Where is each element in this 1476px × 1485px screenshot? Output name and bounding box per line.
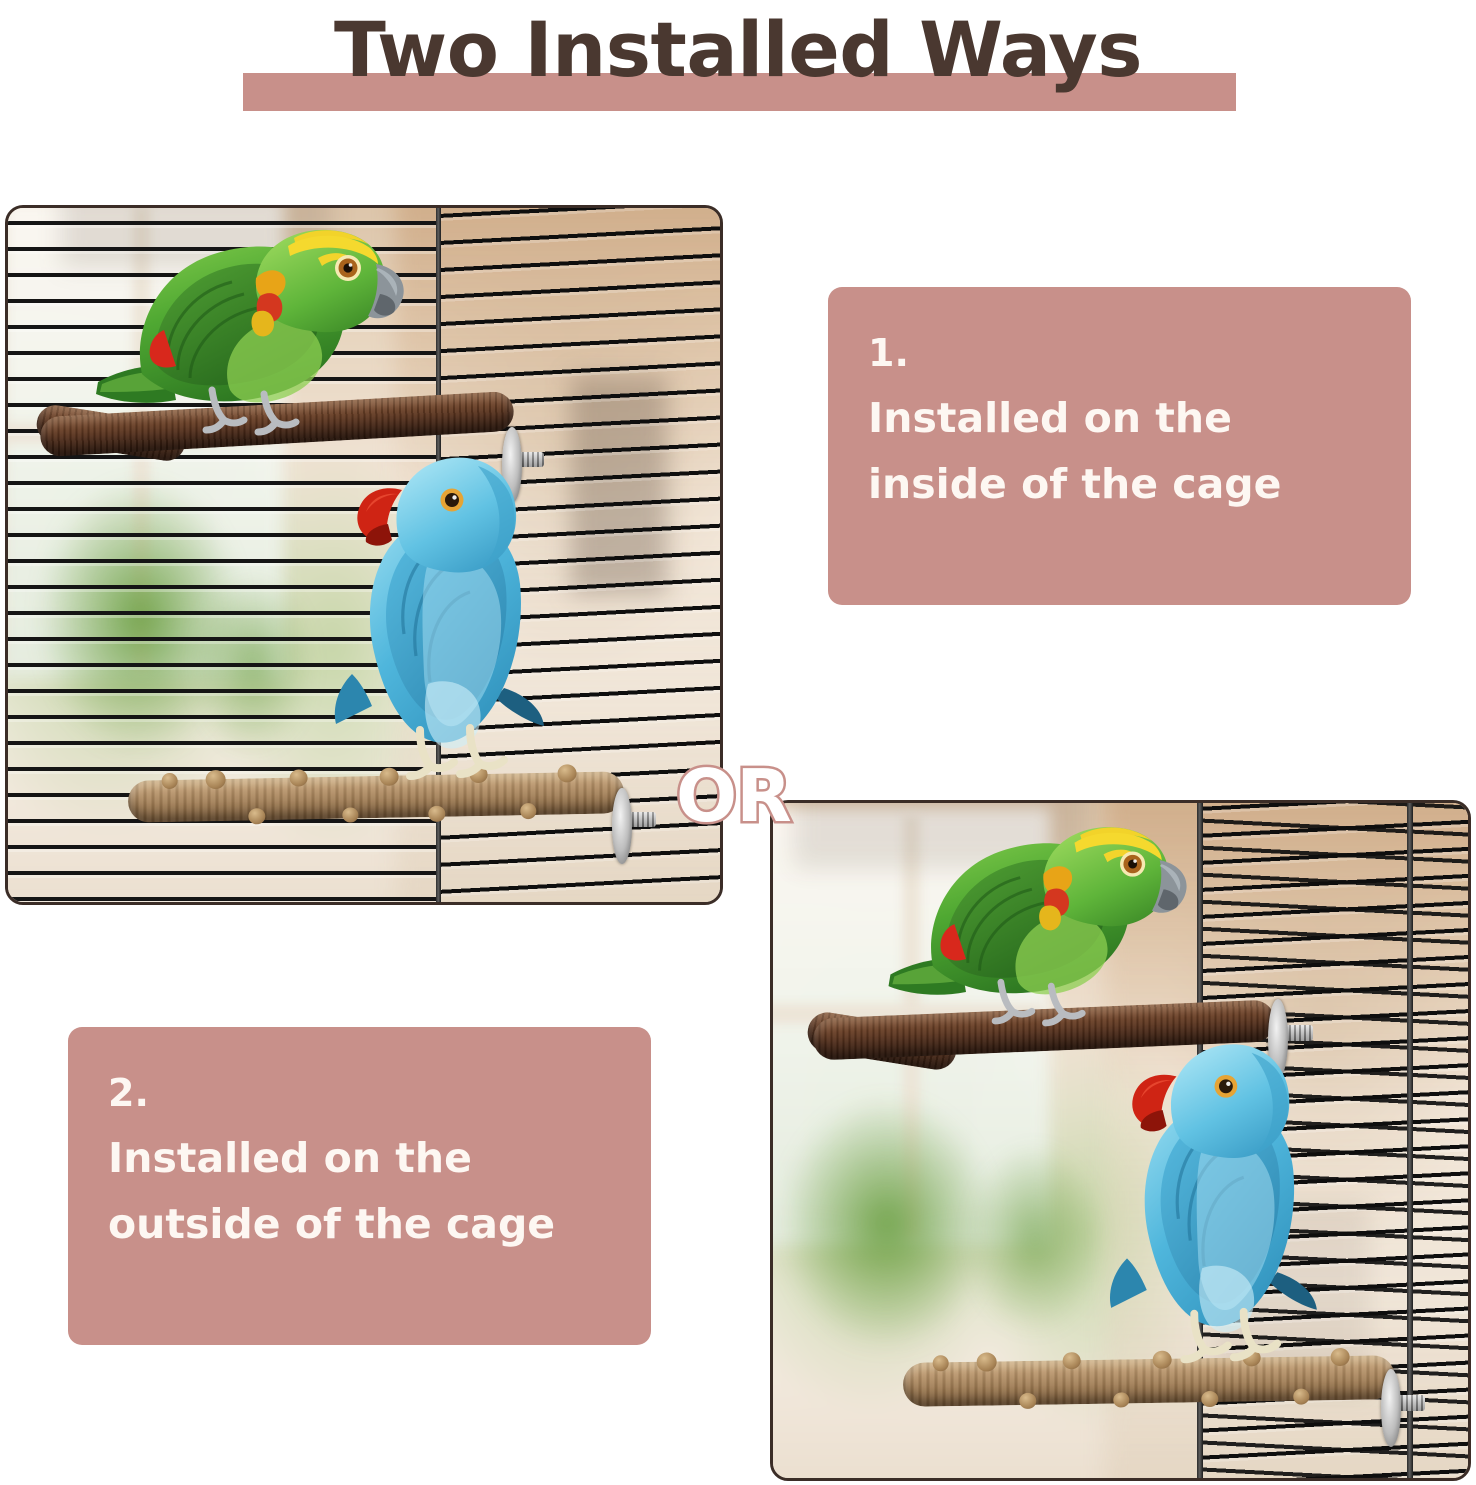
perch-knob (557, 764, 576, 782)
callout-line-2: inside of the cage (868, 451, 1371, 517)
page-title: Two Installed Ways (0, 0, 1476, 100)
callout-number: 2. (108, 1061, 611, 1125)
blue-ringneck-parakeet (1103, 1025, 1331, 1381)
perch-knob (1063, 1352, 1081, 1369)
perch-washer (1381, 1369, 1401, 1447)
infographic-root: Two Installed Ways (0, 0, 1476, 1485)
backdrop-plant (965, 1141, 1105, 1338)
cage-scene-outside (773, 803, 1468, 1478)
backdrop-plant (778, 1095, 996, 1352)
callout-inside-mount: 1. Installed on the inside of the cage (828, 287, 1411, 605)
green-amazon-parrot (80, 224, 400, 444)
perch-knob (1331, 1348, 1350, 1366)
perch-knob (933, 1355, 949, 1371)
perch-knob (977, 1352, 997, 1371)
outside-mount-photo (770, 800, 1471, 1481)
green-amazon-parrot (873, 821, 1183, 1035)
callout-line-1: Installed on the (868, 385, 1371, 451)
perch-knob (205, 770, 225, 789)
perch-knob (162, 773, 178, 789)
callout-line-1: Installed on the (108, 1125, 611, 1191)
callout-number: 1. (868, 321, 1371, 385)
or-separator-label: OR (676, 757, 791, 835)
blue-ringneck-parakeet (328, 438, 558, 798)
perch-knob (289, 769, 307, 786)
callout-line-2: outside of the cage (108, 1191, 611, 1257)
cage-scene-inside (8, 208, 720, 902)
cage-vertical-post (1407, 803, 1413, 1478)
callout-outside-mount: 2. Installed on the outside of the cage (68, 1027, 651, 1345)
header: Two Installed Ways (0, 0, 1476, 130)
inside-mount-photo (5, 205, 723, 905)
perch-washer (612, 788, 632, 864)
